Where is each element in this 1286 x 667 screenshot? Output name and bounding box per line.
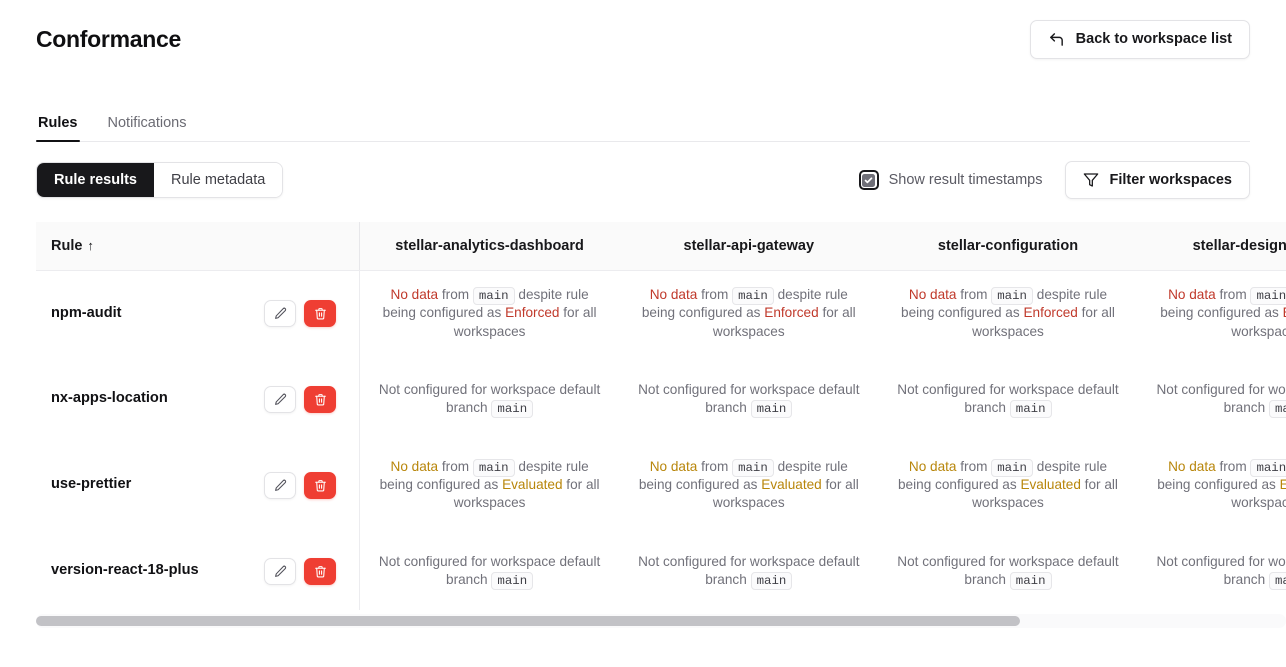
- rule-name: use-prettier: [51, 475, 264, 494]
- trash-icon: [314, 479, 327, 492]
- pencil-icon: [274, 307, 287, 320]
- result-cell: Not configured for workspace default bra…: [878, 356, 1137, 442]
- table-row: npm-auditNo data from main despite rule …: [36, 270, 1286, 356]
- severity-label: Enforced: [505, 305, 559, 320]
- trash-icon: [314, 565, 327, 578]
- result-cell: Not configured for workspace default bra…: [619, 356, 878, 442]
- show-result-timestamps-checkbox[interactable]: Show result timestamps: [859, 170, 1043, 190]
- tab-notifications[interactable]: Notifications: [106, 115, 189, 142]
- horizontal-scrollbar-thumb[interactable]: [36, 616, 1020, 626]
- no-data-status: No data: [650, 459, 698, 474]
- not-configured-text: Not configured for workspace default bra…: [1156, 382, 1286, 415]
- rule-name-cell: npm-audit: [36, 270, 360, 356]
- branch-chip: main: [991, 459, 1033, 477]
- filter-workspaces-button[interactable]: Filter workspaces: [1065, 161, 1251, 199]
- column-header-workspace[interactable]: stellar-api-gateway: [619, 222, 878, 270]
- rule-name-cell: nx-apps-location: [36, 356, 360, 442]
- no-data-status: No data: [391, 287, 439, 302]
- severity-label: Enforced: [764, 305, 818, 320]
- branch-chip: main: [473, 459, 515, 477]
- tab-bar: Rules Notifications: [0, 104, 1286, 142]
- not-configured-text: Not configured for workspace default bra…: [638, 554, 859, 587]
- horizontal-scrollbar[interactable]: [36, 614, 1286, 628]
- back-to-workspace-list-label: Back to workspace list: [1076, 31, 1232, 47]
- result-cell: No data from main despite rule being con…: [1138, 442, 1286, 528]
- edit-rule-button[interactable]: [264, 386, 296, 413]
- not-configured-text: Not configured for workspace default bra…: [1156, 554, 1286, 587]
- branch-chip: main: [991, 287, 1033, 305]
- no-data-status: No data: [909, 459, 957, 474]
- show-result-timestamps-label: Show result timestamps: [889, 172, 1043, 188]
- sort-ascending-icon: ↑: [87, 238, 94, 253]
- delete-rule-button[interactable]: [304, 558, 336, 585]
- row-action-group: [264, 472, 346, 499]
- branch-chip: main: [751, 400, 793, 418]
- severity-label: Evaluated: [1280, 477, 1286, 492]
- severity-label: Evaluated: [502, 477, 562, 492]
- result-cell: No data from main despite rule being con…: [878, 442, 1137, 528]
- result-cell: Not configured for workspace default bra…: [360, 356, 619, 442]
- delete-rule-button[interactable]: [304, 472, 336, 499]
- not-configured-text: Not configured for workspace default bra…: [897, 382, 1118, 415]
- branch-chip: main: [732, 459, 774, 477]
- column-header-rule-label: Rule: [51, 238, 82, 254]
- severity-label: Evaluated: [1020, 477, 1080, 492]
- not-configured-text: Not configured for workspace default bra…: [379, 554, 600, 587]
- checkbox-box[interactable]: [859, 170, 879, 190]
- delete-rule-button[interactable]: [304, 300, 336, 327]
- not-configured-text: Not configured for workspace default bra…: [638, 382, 859, 415]
- result-cell: Not configured for workspace default bra…: [619, 528, 878, 610]
- table-body: npm-auditNo data from main despite rule …: [36, 270, 1286, 610]
- no-data-status: No data: [909, 287, 957, 302]
- trash-icon: [314, 393, 327, 406]
- result-cell: No data from main despite rule being con…: [878, 270, 1137, 356]
- table-row: version-react-18-plusNot configured for …: [36, 528, 1286, 610]
- toolbar-right-group: Show result timestamps Filter workspaces: [859, 161, 1250, 199]
- branch-chip: main: [1010, 400, 1052, 418]
- result-cell: Not configured for workspace default bra…: [360, 528, 619, 610]
- result-cell: No data from main despite rule being con…: [619, 442, 878, 528]
- branch-chip: main: [1250, 459, 1286, 477]
- branch-chip: main: [732, 287, 774, 305]
- back-to-workspace-list-button[interactable]: Back to workspace list: [1030, 20, 1250, 59]
- pencil-icon: [274, 565, 287, 578]
- branch-chip: main: [1269, 400, 1286, 418]
- row-action-group: [264, 558, 346, 585]
- result-cell: No data from main despite rule being con…: [360, 442, 619, 528]
- result-cell: No data from main despite rule being con…: [360, 270, 619, 356]
- row-action-group: [264, 300, 346, 327]
- segment-rule-metadata[interactable]: Rule metadata: [154, 163, 282, 197]
- conformance-table-viewport[interactable]: Rule↑ stellar-analytics-dashboard stella…: [36, 222, 1286, 610]
- no-data-status: No data: [391, 459, 439, 474]
- column-header-rule[interactable]: Rule↑: [36, 222, 360, 270]
- result-cell: Not configured for workspace default bra…: [1138, 528, 1286, 610]
- no-data-status: No data: [1168, 287, 1216, 302]
- rule-name: version-react-18-plus: [51, 561, 264, 580]
- table-toolbar: Rule results Rule metadata Show result t…: [0, 160, 1286, 200]
- filter-workspaces-label: Filter workspaces: [1110, 172, 1233, 188]
- segment-rule-results[interactable]: Rule results: [37, 163, 154, 197]
- branch-chip: main: [473, 287, 515, 305]
- page-title: Conformance: [36, 26, 181, 53]
- no-data-status: No data: [650, 287, 698, 302]
- branch-chip: main: [1250, 287, 1286, 305]
- rule-name-cell: use-prettier: [36, 442, 360, 528]
- page-header: Conformance Back to workspace list: [0, 0, 1286, 78]
- branch-chip: main: [751, 572, 793, 590]
- back-arrow-icon: [1048, 31, 1065, 48]
- rule-name-cell: version-react-18-plus: [36, 528, 360, 610]
- result-cell: No data from main despite rule being con…: [1138, 270, 1286, 356]
- not-configured-text: Not configured for workspace default bra…: [897, 554, 1118, 587]
- column-header-workspace[interactable]: stellar-configuration: [878, 222, 1137, 270]
- trash-icon: [314, 307, 327, 320]
- column-header-workspace[interactable]: stellar-analytics-dashboard: [360, 222, 619, 270]
- branch-chip: main: [1010, 572, 1052, 590]
- result-cell: Not configured for workspace default bra…: [1138, 356, 1286, 442]
- table-head: Rule↑ stellar-analytics-dashboard stella…: [36, 222, 1286, 270]
- edit-rule-button[interactable]: [264, 300, 296, 327]
- branch-chip: main: [491, 572, 533, 590]
- result-cell: No data from main despite rule being con…: [619, 270, 878, 356]
- funnel-icon: [1083, 172, 1099, 188]
- pencil-icon: [274, 393, 287, 406]
- severity-label: Enforced: [1023, 305, 1077, 320]
- pencil-icon: [274, 479, 287, 492]
- table-header-row: Rule↑ stellar-analytics-dashboard stella…: [36, 222, 1286, 270]
- rule-name: nx-apps-location: [51, 389, 264, 408]
- edit-rule-button[interactable]: [264, 472, 296, 499]
- not-configured-text: Not configured for workspace default bra…: [379, 382, 600, 415]
- row-action-group: [264, 386, 346, 413]
- branch-chip: main: [1269, 572, 1286, 590]
- view-mode-segmented-control: Rule results Rule metadata: [36, 162, 283, 198]
- severity-label: Enforced: [1283, 305, 1286, 320]
- table-row: use-prettierNo data from main despite ru…: [36, 442, 1286, 528]
- table-row: nx-apps-locationNot configured for works…: [36, 356, 1286, 442]
- rule-name: npm-audit: [51, 304, 264, 323]
- conformance-page: Conformance Back to workspace list Rules…: [0, 0, 1286, 667]
- result-cell: Not configured for workspace default bra…: [878, 528, 1137, 610]
- column-header-workspace[interactable]: stellar-design-system: [1138, 222, 1286, 270]
- conformance-table: Rule↑ stellar-analytics-dashboard stella…: [36, 222, 1286, 610]
- severity-label: Evaluated: [761, 477, 821, 492]
- checkbox-checked-icon: [862, 174, 875, 187]
- no-data-status: No data: [1168, 459, 1216, 474]
- edit-rule-button[interactable]: [264, 558, 296, 585]
- tab-rules[interactable]: Rules: [36, 115, 80, 142]
- branch-chip: main: [491, 400, 533, 418]
- delete-rule-button[interactable]: [304, 386, 336, 413]
